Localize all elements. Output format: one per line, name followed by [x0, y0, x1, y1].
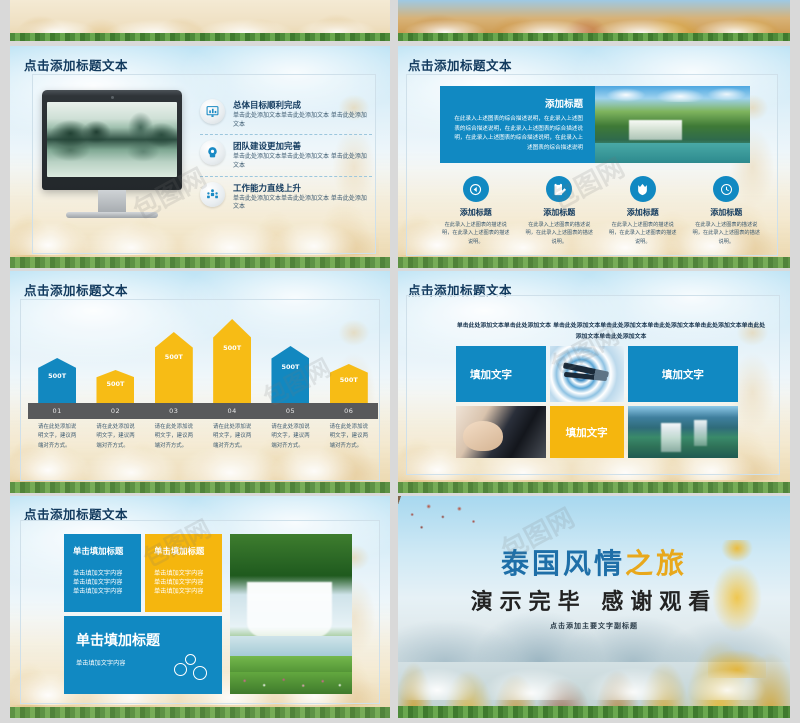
info-card-wide[interactable]: 单击填加标题 单击填加文字内容 — [64, 616, 222, 694]
lake-mountain-photo — [47, 102, 177, 177]
waterfall-cliff-photo — [628, 406, 738, 458]
card-line: 单击填加文字内容 — [154, 570, 213, 579]
list-item-heading: 团队建设更加完善 — [233, 140, 372, 152]
chart-category-label: 05 — [261, 407, 319, 415]
icon-feature-1[interactable]: 添加标题 在此录入上述图表的描述说明，在此录入上述图表的描述说明。 — [434, 176, 518, 246]
list-item-body: 单击此处添加文本单击此处添加文本 单击此处添加文本 — [233, 112, 372, 129]
chart-category-label: 02 — [86, 407, 144, 415]
list-item-heading: 工作能力直线上升 — [233, 182, 372, 194]
list-item-body: 单击此处添加文本单击此处添加文本 单击此处添加文本 — [233, 153, 372, 170]
chart-bar-value-label: 500T — [271, 363, 309, 371]
chart-bar-column[interactable]: 500T — [28, 358, 86, 403]
card-row: 单击填加标题 单击填加文字内容 单击填加文字内容 单击填加文字内容 单击填加标题… — [64, 534, 222, 612]
icon-feature-body: 在此录入上述图表的描述说明，在此录入上述图表的描述说明。 — [607, 221, 679, 246]
chart-bar[interactable]: 500T — [96, 370, 134, 403]
slide-2[interactable]: 点击添加标题文本 添加标题 在此录入上述图表的综合描述说明，在此录入上述图表的综… — [398, 46, 790, 268]
slide-1[interactable]: 点击添加标题文本 总体目标顺利完成 单击此处添加文本单击此处添加文本 单击此处添… — [10, 46, 390, 268]
hero-banner[interactable]: 添加标题 在此录入上述图表的综合描述说明，在此录入上述图表的综合描述说明，在此录… — [440, 86, 750, 163]
card-heading: 单击填加标题 — [76, 630, 210, 650]
icon-feature-heading: 添加标题 — [607, 207, 679, 218]
grid-cell-text-3[interactable]: 填加文字 — [550, 406, 624, 458]
chart-bar-value-label: 500T — [330, 376, 368, 384]
chart-bar-column[interactable]: 500T — [261, 346, 319, 403]
grid-cell-label: 填加文字 — [470, 367, 512, 382]
green-strip — [10, 707, 390, 718]
monitor-stand-neck — [98, 190, 126, 212]
list-item[interactable]: 团队建设更加完善 单击此处添加文本单击此处添加文本 单击此处添加文本 — [200, 134, 372, 175]
arrow-bar-chart: 500T500T500T500T500T500T — [28, 305, 378, 403]
monitor-bezel — [42, 90, 182, 190]
slide-5[interactable]: 点击添加标题文本 单击填加标题 单击填加文字内容 单击填加文字内容 单击填加文字… — [10, 496, 390, 718]
icon-feature-heading: 添加标题 — [440, 207, 512, 218]
hero-text-panel: 添加标题 在此录入上述图表的综合描述说明，在此录入上述图表的综合描述说明，在此录… — [440, 86, 595, 163]
cloud-overlay — [595, 88, 750, 102]
webcam-icon — [111, 96, 114, 99]
chart-bar-column[interactable]: 500T — [320, 364, 378, 403]
grid-cell-label: 填加文字 — [566, 425, 608, 440]
card-heading: 单击填加标题 — [73, 545, 132, 557]
green-strip — [398, 33, 790, 41]
chart-bars: 500T500T500T500T500T500T — [28, 305, 378, 403]
card-line: 单击填加文字内容 — [154, 588, 213, 597]
card-heading: 单击填加标题 — [154, 545, 213, 557]
list-item-body: 单击此处添加文本单击此处添加文本 单击此处添加文本 — [233, 195, 372, 212]
chart-captions: 请在此处添加说明文字，建议两端对齐方式。请在此处添加说明文字，建议两端对齐方式。… — [28, 423, 378, 451]
grid-cell-text-1[interactable]: 填加文字 — [456, 346, 546, 402]
lightbulb-head-icon — [200, 140, 225, 165]
waterfall-flowers-photo — [230, 534, 352, 694]
grid-cell-label: 填加文字 — [662, 367, 704, 382]
chart-category-label: 06 — [320, 407, 378, 415]
list-item-text: 团队建设更加完善 单击此处添加文本单击此处添加文本 单击此处添加文本 — [233, 140, 372, 170]
chart-bar-value-label: 500T — [38, 372, 76, 380]
icon-feature-3[interactable]: 添加标题 在此录入上述图表的描述说明，在此录入上述图表的描述说明。 — [601, 176, 685, 246]
desktop-monitor-mockup — [42, 90, 182, 218]
feature-list: 总体目标顺利完成 单击此处添加文本单击此处添加文本 单击此处添加文本 团队建设更… — [200, 94, 372, 217]
clock-icon — [713, 176, 739, 202]
chart-category-label: 04 — [203, 407, 261, 415]
card-line: 单击填加文字内容 — [73, 579, 132, 588]
chart-bar-column[interactable]: 500T — [145, 332, 203, 403]
monitor-screen-image — [47, 102, 177, 177]
subheadline: 演示完毕 感谢观看 — [398, 584, 790, 616]
icon-feature-body: 在此录入上述图表的描述说明，在此录入上述图表的描述说明。 — [691, 221, 763, 246]
card-line: 单击填加文字内容 — [73, 588, 132, 597]
people-group-icon — [200, 182, 225, 207]
waterfall-landscape-photo — [595, 86, 750, 163]
chart-caption: 请在此处添加说明文字，建议两端对齐方式。 — [145, 423, 203, 451]
icon-feature-row: 添加标题 在此录入上述图表的描述说明，在此录入上述图表的描述说明。 添加标题 在… — [434, 176, 768, 246]
cloud-band — [398, 651, 790, 700]
slide-deck-preview: 点击添加标题文本 总体目标顺利完成 单击此处添加文本单击此处添加文本 单击此处添… — [0, 0, 800, 723]
slide-4[interactable]: 点击添加标题文本 单击此处添加文本单击此处添加文本 单击此处添加文本单击此处添加… — [398, 271, 790, 493]
chart-caption: 请在此处添加说明文字，建议两端对齐方式。 — [28, 423, 86, 451]
card-line: 单击填加文字内容 — [73, 570, 132, 579]
green-strip — [398, 706, 790, 718]
chart-caption: 请在此处添加说明文字，建议两端对齐方式。 — [86, 423, 144, 451]
list-item[interactable]: 工作能力直线上升 单击此处添加文本单击此处添加文本 单击此处添加文本 — [200, 176, 372, 217]
closing-text-block: 泰国风情之旅 演示完毕 感谢观看 点击添加主要文字副标题 — [398, 542, 790, 631]
green-strip — [10, 257, 390, 268]
headline-yellow: 之旅 — [625, 547, 687, 580]
info-card-yellow[interactable]: 单击填加标题 单击填加文字内容 单击填加文字内容 单击填加文字内容 — [145, 534, 222, 612]
hand-pen-photo — [456, 406, 546, 458]
slide-6-thank-you[interactable]: 泰国风情之旅 演示完毕 感谢观看 点击添加主要文字副标题 包图网 — [398, 496, 790, 718]
subtitle: 点击添加主要文字副标题 — [398, 621, 790, 631]
chart-axis-labels: 010203040506 — [28, 403, 378, 419]
intro-paragraph: 单击此处添加文本单击此处添加文本 单击此处添加文本单击此处添加文本单击此处添加文… — [454, 321, 768, 342]
card-group: 单击填加标题 单击填加文字内容 单击填加文字内容 单击填加文字内容 单击填加标题… — [64, 534, 222, 694]
previous-slides-strip — [0, 0, 800, 41]
chart-bar[interactable]: 500T — [155, 332, 193, 403]
page-title: 点击添加标题文本 — [24, 55, 128, 74]
chart-bar-column[interactable]: 500T — [86, 370, 144, 403]
chart-bar[interactable]: 500T — [38, 358, 76, 403]
chart-bar-value-label: 500T — [213, 344, 251, 352]
chart-bar-value-label: 500T — [96, 380, 134, 388]
green-strip — [10, 33, 390, 41]
headline-blue: 泰国风情 — [501, 547, 625, 580]
chart-caption: 请在此处添加说明文字，建议两端对齐方式。 — [261, 423, 319, 451]
green-strip — [398, 482, 790, 493]
icon-feature-heading: 添加标题 — [691, 207, 763, 218]
previous-slide-right-bottom[interactable] — [398, 0, 790, 41]
chart-caption: 请在此处添加说明文字，建议两端对齐方式。 — [320, 423, 378, 451]
clipboard-pen-icon — [546, 176, 572, 202]
molecule-circles-icon — [174, 654, 208, 684]
hero-heading: 添加标题 — [545, 96, 583, 110]
list-item-text: 总体目标顺利完成 单击此处添加文本单击此处添加文本 单击此处添加文本 — [233, 99, 372, 129]
chart-bar[interactable]: 500T — [330, 364, 368, 403]
grid-cell-text-2[interactable]: 填加文字 — [628, 346, 738, 402]
dartboard-arrows-photo — [550, 346, 624, 402]
monitor-stand-foot — [66, 212, 158, 218]
headline: 泰国风情之旅 — [398, 542, 790, 582]
page-title: 点击添加标题文本 — [408, 55, 512, 74]
image-text-grid: 填加文字 填加文字 填加文字 — [456, 346, 738, 454]
page-title: 点击添加标题文本 — [24, 280, 128, 299]
slide-3[interactable]: 点击添加标题文本 500T500T500T500T500T500T 010203… — [10, 271, 390, 493]
previous-slide-left-bottom[interactable] — [10, 0, 390, 41]
waterfall-shape — [247, 582, 332, 640]
green-strip — [398, 257, 790, 268]
chart-caption: 请在此处添加说明文字，建议两端对齐方式。 — [203, 423, 261, 451]
icon-feature-2[interactable]: 添加标题 在此录入上述图表的描述说明，在此录入上述图表的描述说明。 — [518, 176, 602, 246]
water-shape — [595, 143, 750, 163]
info-card-blue[interactable]: 单击填加标题 单击填加文字内容 单击填加文字内容 单击填加文字内容 — [64, 534, 141, 612]
crown-shield-icon — [630, 176, 656, 202]
waterfall-shape — [629, 120, 682, 140]
list-item[interactable]: 总体目标顺利完成 单击此处添加文本单击此处添加文本 单击此处添加文本 — [200, 94, 372, 134]
list-item-text: 工作能力直线上升 单击此处添加文本单击此处添加文本 单击此处添加文本 — [233, 182, 372, 212]
flower-field-shape — [230, 672, 352, 694]
icon-feature-heading: 添加标题 — [524, 207, 596, 218]
chart-bar-column[interactable]: 500T — [203, 319, 261, 403]
hero-body: 在此录入上述图表的综合描述说明，在此录入上述图表的综合描述说明，在此录入上述图表… — [452, 115, 583, 153]
chart-bar[interactable]: 500T — [271, 346, 309, 403]
chart-category-label: 03 — [145, 407, 203, 415]
icon-feature-4[interactable]: 添加标题 在此录入上述图表的描述说明，在此录入上述图表的描述说明。 — [685, 176, 769, 246]
icon-feature-body: 在此录入上述图表的描述说明，在此录入上述图表的描述说明。 — [440, 221, 512, 246]
card-line: 单击填加文字内容 — [154, 579, 213, 588]
chart-bar-value-label: 500T — [155, 353, 193, 361]
chart-category-label: 01 — [28, 407, 86, 415]
chart-bar[interactable]: 500T — [213, 319, 251, 403]
icon-feature-body: 在此录入上述图表的描述说明，在此录入上述图表的描述说明。 — [524, 221, 596, 246]
list-item-heading: 总体目标顺利完成 — [233, 99, 372, 111]
play-circle-icon — [463, 176, 489, 202]
green-strip — [10, 482, 390, 493]
presentation-chart-icon — [200, 99, 225, 124]
